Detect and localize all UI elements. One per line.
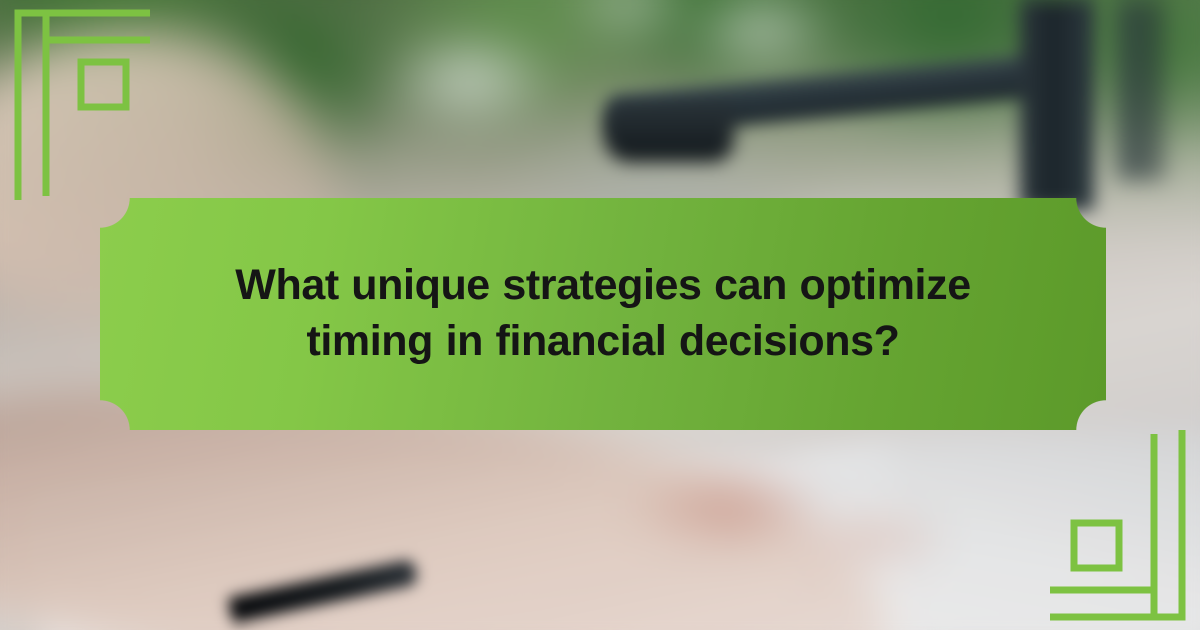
corner-ornament-top-left-icon [0, 0, 150, 200]
quote-text: What unique strategies can optimize timi… [233, 258, 973, 370]
corner-ornament-bottom-right-icon [1050, 430, 1200, 630]
quote-card: What unique strategies can optimize timi… [0, 0, 1200, 630]
desk-lamp-post-far [1118, 0, 1164, 180]
fingers [620, 448, 950, 598]
desk-lamp-post [1020, 0, 1094, 210]
quote-banner: What unique strategies can optimize timi… [100, 198, 1106, 430]
desk-lamp-head [604, 104, 734, 162]
